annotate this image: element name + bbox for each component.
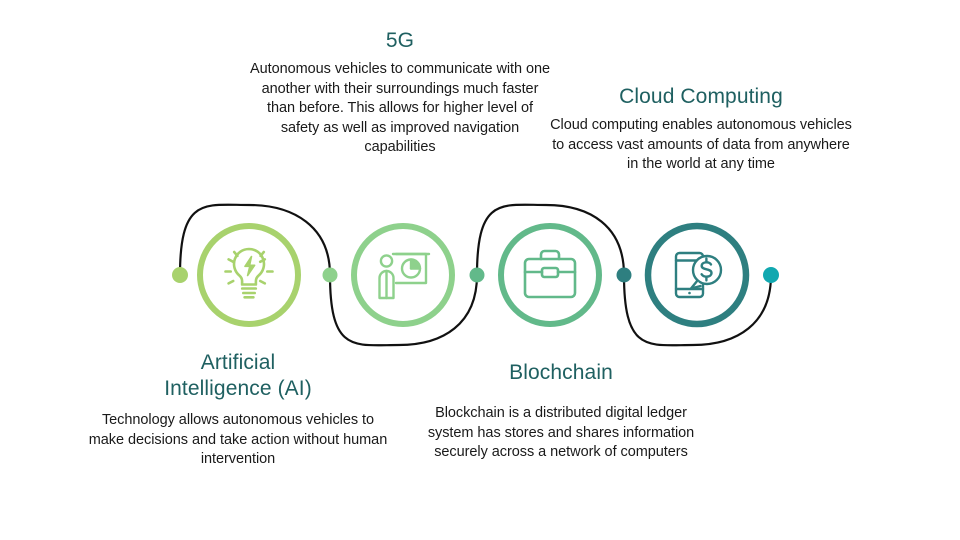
infographic-canvas: 5G Autonomous vehicles to communicate wi… bbox=[0, 0, 960, 540]
body-blockchain: Blockchain is a distributed digital ledg… bbox=[418, 404, 704, 463]
node-blockchain[interactable] bbox=[501, 226, 599, 324]
node-artificial-intelligence[interactable] bbox=[200, 226, 298, 324]
node-ring-1[interactable] bbox=[200, 226, 298, 324]
label-block-cloud-computing: Cloud Computing Cloud computing enables … bbox=[548, 84, 854, 175]
link-dot-3 bbox=[617, 268, 632, 283]
heading-blockchain: Blochchain bbox=[418, 360, 704, 386]
body-artificial-intelligence: Technology allows autonomous vehicles to… bbox=[88, 411, 388, 470]
node-ring-2[interactable] bbox=[354, 226, 452, 324]
node-cloud-computing[interactable] bbox=[648, 226, 746, 324]
node-ring-3[interactable] bbox=[501, 226, 599, 324]
link-dot-2 bbox=[470, 268, 485, 283]
heading-cloud-computing: Cloud Computing bbox=[548, 84, 854, 110]
label-block-5g: 5G Autonomous vehicles to communicate wi… bbox=[248, 28, 552, 158]
body-cloud-computing: Cloud computing enables autonomous vehic… bbox=[548, 116, 854, 175]
link-dot-1 bbox=[323, 268, 338, 283]
label-block-artificial-intelligence: Artificial Intelligence (AI) Technology … bbox=[88, 350, 388, 470]
body-5g: Autonomous vehicles to communicate with … bbox=[248, 60, 552, 158]
start-dot bbox=[172, 267, 188, 283]
label-block-blockchain: Blochchain Blockchain is a distributed d… bbox=[418, 360, 704, 463]
heading-line-2: Intelligence (AI) bbox=[164, 377, 312, 400]
node-5g[interactable] bbox=[354, 226, 452, 324]
heading-artificial-intelligence: Artificial Intelligence (AI) bbox=[88, 350, 388, 402]
heading-5g: 5G bbox=[248, 28, 552, 54]
heading-line-1: Artificial bbox=[201, 351, 276, 374]
end-dot bbox=[763, 267, 779, 283]
